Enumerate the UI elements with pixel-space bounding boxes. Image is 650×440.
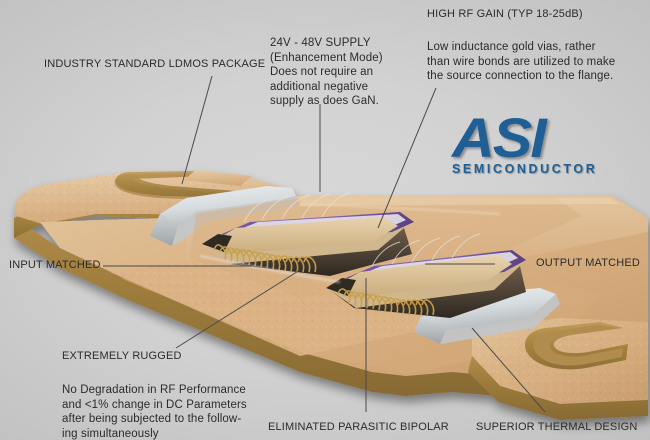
callout-rugged-detail: No Degradation in RF Performance and <1%… [62,383,247,440]
callout-supply-voltage: 24V - 48V SUPPLY (Enhancement Mode) Does… [270,36,383,109]
leader-low-inductance [378,88,436,228]
callout-input-matched: INPUT MATCHED [9,259,101,273]
callout-low-inductance-gold-vias: Low inductance gold vias, rather than wi… [427,40,615,84]
asi-logo: ASI SEMICONDUCTOR [452,112,602,184]
callout-superior-thermal-design: SUPERIOR THERMAL DESIGN [476,421,638,435]
callout-eliminated-parasitic-bipolar: ELIMINATED PARASITIC BIPOLAR [268,421,449,435]
callout-industry-standard-ldmos-package: INDUSTRY STANDARD LDMOS PACKAGE [44,58,265,72]
callout-output-matched: OUTPUT MATCHED [536,257,640,271]
diagram-canvas: ASI SEMICONDUCTOR INDUSTRY STANDARD LDMO… [0,0,650,440]
leader-industry-standard [182,76,212,184]
asi-logo-wordmark: ASI [452,112,611,164]
leader-extremely-rugged [176,270,300,348]
callout-high-rf-gain: HIGH RF GAIN (TYP 18-25dB) [427,8,583,22]
leader-superior-thermal [472,328,545,412]
callout-extremely-rugged: EXTREMELY RUGGED [62,350,182,364]
